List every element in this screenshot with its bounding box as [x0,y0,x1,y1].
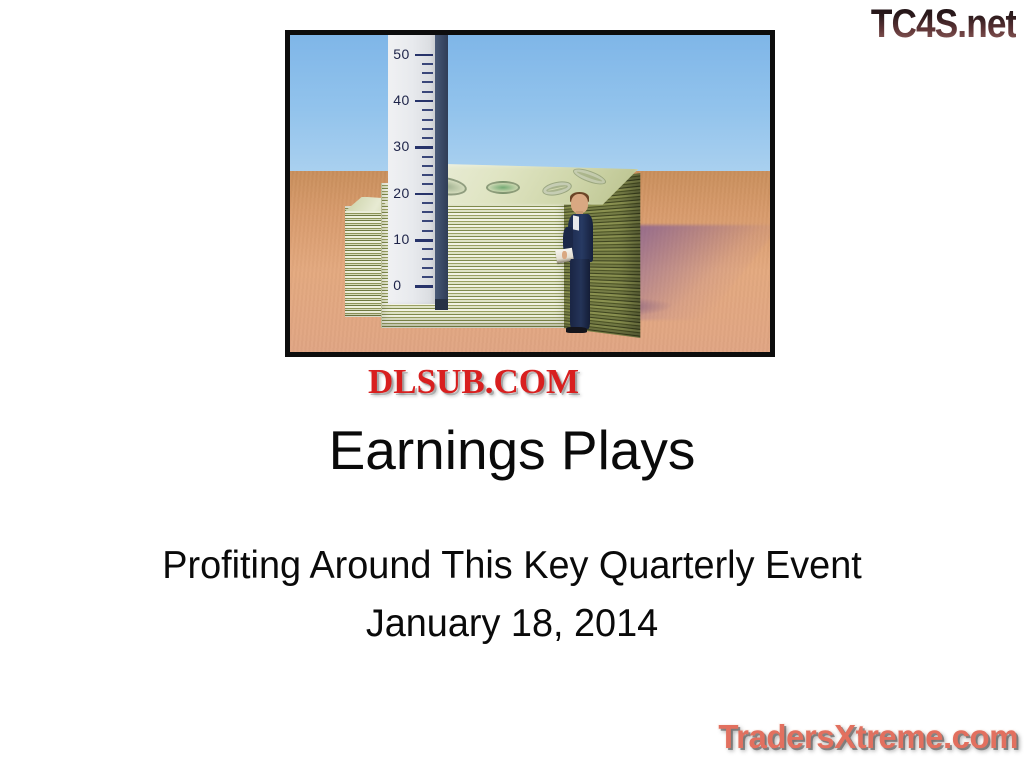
ruler-minor-tick [422,119,433,121]
ruler-label-40: 40 [393,92,410,108]
ruler-minor-tick [422,183,433,185]
ruler-label-50: 50 [393,46,410,62]
bill-seal-oval-icon [486,181,520,194]
ruler-major-tick [415,146,434,149]
ruler-minor-tick [422,267,433,269]
subtitle-line-2: January 18, 2014 [15,595,1008,653]
ruler-minor-tick [422,230,433,232]
illustration-scene: 50403020100 [290,35,770,352]
businessman-legs [570,259,589,329]
ruler-minor-tick [422,174,433,176]
watermark-dlsub: DLSUB.COM [368,363,579,401]
sky-background [290,35,770,171]
ruler-label-20: 20 [393,185,410,201]
slide-title: Earnings Plays [0,418,1024,482]
ruler-label-30: 30 [393,138,410,154]
ruler-minor-tick [422,220,433,222]
ruler-major-tick [415,239,434,242]
ruler-minor-tick [422,276,433,278]
businessman-shirt-collar [573,215,579,230]
ruler-minor-tick [422,211,433,213]
ruler-minor-tick [422,91,433,93]
businessman-figure [561,194,599,333]
measuring-ruler: 50403020100 [388,35,448,304]
ruler-minor-tick [422,137,433,139]
businessman-shoe [566,327,587,333]
watermark-tradersxtreme: TradersXtreme.com [718,718,1018,756]
ruler-minor-tick [422,128,433,130]
ruler-minor-tick [422,156,433,158]
ruler-major-tick [415,285,434,288]
ruler-minor-tick [422,109,433,111]
ruler-side-face [435,35,448,304]
businessman-hand [562,251,567,259]
slide-illustration: 50403020100 [285,30,775,357]
ruler-major-tick [415,100,434,103]
ruler-major-tick [415,193,434,196]
ruler-minor-tick [422,165,433,167]
ruler-major-tick [415,54,434,57]
ruler-label-10: 10 [393,231,410,247]
subtitle-line-1: Profiting Around This Key Quarterly Even… [15,537,1008,595]
slide-subtitle: Profiting Around This Key Quarterly Even… [0,537,1024,653]
ruler-minor-tick [422,81,433,83]
watermark-tc4s: TC4S.net [870,2,1016,46]
ruler-minor-tick [422,72,433,74]
bill-corner-scrollwork-icon [571,165,608,187]
ruler-minor-tick [422,258,433,260]
ruler-minor-tick [422,248,433,250]
ruler-minor-tick [422,63,433,65]
ruler-minor-tick [422,202,433,204]
ruler-tick-marks [388,35,435,304]
ruler-label-0: 0 [393,277,401,293]
